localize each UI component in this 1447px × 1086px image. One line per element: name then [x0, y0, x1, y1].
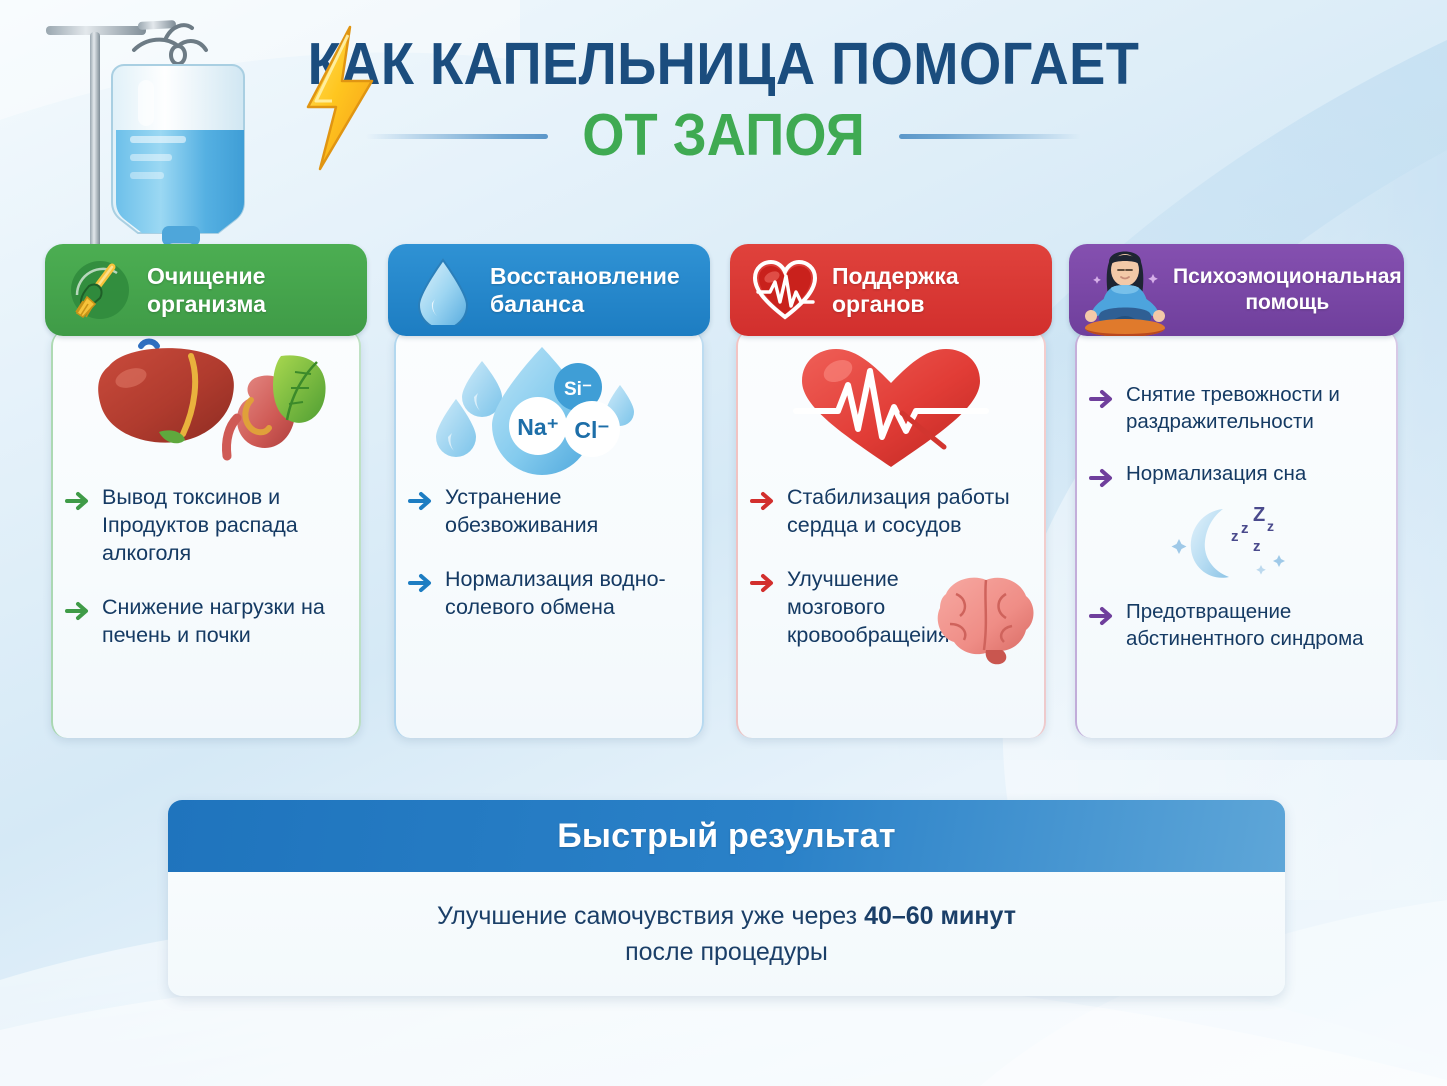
card-organs-title: Поддержка органов — [824, 262, 969, 318]
title-divider-right — [899, 134, 1081, 139]
card-balance-header: Восстановление баланса — [388, 244, 710, 336]
fast-result-banner-header: Быстрый результат — [168, 800, 1285, 872]
card-organs-bullets: Стабилизация работы сердца и сосудов Улу… — [738, 480, 1044, 650]
card-balance[interactable]: Si⁻ Na⁺ Cl⁻ Устранение обезвожи — [388, 244, 710, 738]
arrow-right-icon — [750, 570, 776, 596]
cards-row: Вывод токсинов и Iпродуктов распада алко… — [0, 244, 1447, 744]
electrolyte-label-na: Na⁺ — [517, 414, 559, 440]
card-title-line1: Восстановление — [490, 262, 680, 290]
card-psycho-bullets: Снятие тревожности и раздражительности Н… — [1077, 330, 1396, 653]
svg-text:z: z — [1231, 528, 1239, 545]
sleep-illustration: Z z z z z — [1089, 499, 1382, 583]
list-item-label: Нормализация водно-солевого обмена — [445, 566, 688, 622]
electrolyte-illustration: Si⁻ Na⁺ Cl⁻ — [396, 330, 702, 480]
card-organs-header: Поддержка органов — [730, 244, 1052, 336]
card-title-line2: организма — [147, 290, 266, 318]
svg-text:z: z — [1267, 518, 1274, 534]
arrow-right-icon — [408, 488, 434, 514]
fast-result-banner-body: Улучшение самочувствия уже через 40–60 м… — [168, 872, 1285, 971]
list-item: Снятие тревожности и раздражительности — [1089, 382, 1382, 435]
card-balance-body: Si⁻ Na⁺ Cl⁻ Устранение обезвожи — [394, 330, 704, 738]
fast-result-banner: Быстрый результат Улучшение самочувствия… — [168, 800, 1285, 996]
title-divider-left — [366, 134, 548, 139]
fast-result-line2: после процедуры — [168, 934, 1285, 970]
heart-ecg-illustration — [738, 330, 1044, 480]
fast-result-highlight: 40–60 минут — [864, 902, 1016, 930]
card-balance-bullets: Устранение обезвоживания Нормализация во… — [396, 480, 702, 622]
svg-text:z: z — [1241, 520, 1249, 537]
page-title-line1: КАК КАПЕЛЬНИЦА ПОМОГАЕТ — [58, 34, 1389, 95]
arrow-right-icon — [1089, 386, 1115, 412]
svg-text:z: z — [1253, 538, 1261, 555]
fast-result-text-before: Улучшение самочувствия уже через — [437, 902, 864, 930]
card-cleansing-bullets: Вывод токсинов и Iпродуктов распада алко… — [53, 480, 359, 650]
broom-icon — [61, 251, 139, 329]
list-item: Вывод токсинов и Iпродуктов распада алко… — [65, 484, 345, 568]
arrow-right-icon — [1089, 465, 1115, 491]
list-item-label: Нормализация сна — [1126, 461, 1306, 488]
arrow-right-icon — [65, 488, 91, 514]
svg-text:Z: Z — [1253, 504, 1265, 526]
list-item: Снижение нагрузки на печень и почки — [65, 594, 345, 650]
liver-kidney-illustration — [53, 330, 359, 480]
list-item: Улучшение мозгового кровообращеіия — [750, 566, 1030, 650]
liver-kidney-leaf-icon — [79, 338, 334, 478]
card-title-line1: Поддержка — [832, 262, 959, 290]
lightning-bolt-icon — [298, 25, 382, 171]
card-title-line2: помощь — [1173, 290, 1402, 316]
page-title-line2: ОТ ЗАПОЯ — [582, 105, 864, 166]
infographic-root: КАК КАПЕЛЬНИЦА ПОМОГАЕТ ОТ ЗАПОЯ — [0, 0, 1447, 1086]
sleeping-moon-zzz-icon: Z z z z z — [1161, 499, 1311, 583]
heart-pulse-icon — [746, 251, 824, 329]
electrolyte-label-cl: Cl⁻ — [574, 417, 609, 443]
list-item-label: Устранение обезвоживания — [445, 484, 688, 540]
card-cleansing[interactable]: Вывод токсинов и Iпродуктов распада алко… — [45, 244, 367, 738]
fast-result-title: Быстрый результат — [557, 817, 896, 856]
list-item-label: Вывод токсинов и Iпродуктов распада алко… — [102, 484, 345, 568]
arrow-right-icon — [408, 570, 434, 596]
list-item-label: Предотвращение абстинентного синдрома — [1126, 599, 1382, 652]
electrolyte-label-si: Si⁻ — [564, 379, 592, 400]
arrow-right-icon — [1089, 603, 1115, 629]
list-item-label: Снятие тревожности и раздражительности — [1126, 382, 1382, 435]
list-item-label: Снижение нагрузки на печень и почки — [102, 594, 345, 650]
card-cleansing-title: Очищение организма — [139, 262, 276, 318]
card-cleansing-header: Очищение организма — [45, 244, 367, 336]
card-organs[interactable]: Стабилизация работы сердца и сосудов Улу… — [730, 244, 1052, 738]
card-title-line1: Психоэмоциональная — [1173, 264, 1402, 290]
electrolyte-drops-icon: Si⁻ Na⁺ Cl⁻ — [434, 341, 664, 476]
list-item: Нормализация водно-солевого обмена — [408, 566, 688, 622]
card-title-line2: баланса — [490, 290, 680, 318]
list-item-label: Улучшение мозгового кровообращеіия — [787, 566, 957, 650]
card-psycho-header: Психоэмоциональная помощь — [1069, 244, 1404, 336]
list-item: Стабилизация работы сердца и сосудов — [750, 484, 1030, 540]
fast-result-line1: Улучшение самочувствия уже через 40–60 м… — [168, 898, 1285, 934]
card-psycho[interactable]: Снятие тревожности и раздражительности Н… — [1069, 244, 1404, 738]
card-psycho-title: Психоэмоциональная помощь — [1171, 264, 1412, 315]
heart-ecg-icon — [784, 343, 999, 473]
card-organs-body: Стабилизация работы сердца и сосудов Улу… — [736, 330, 1046, 738]
list-item: Устранение обезвоживания — [408, 484, 688, 540]
arrow-right-icon — [750, 488, 776, 514]
card-balance-title: Восстановление баланса — [482, 262, 690, 318]
card-title-line1: Очищение — [147, 262, 266, 290]
water-drop-icon — [404, 251, 482, 329]
list-item-label: Стабилизация работы сердца и сосудов — [787, 484, 1030, 540]
list-item: Предотвращение абстинентного синдрома — [1089, 599, 1382, 652]
list-item: Нормализация сна — [1089, 461, 1382, 491]
arrow-right-icon — [65, 598, 91, 624]
card-psycho-body: Снятие тревожности и раздражительности Н… — [1075, 330, 1398, 738]
page-title-row2: ОТ ЗАПОЯ — [0, 105, 1447, 166]
card-title-line2: органов — [832, 290, 959, 318]
title-block: КАК КАПЕЛЬНИЦА ПОМОГАЕТ ОТ ЗАПОЯ — [0, 34, 1447, 167]
card-cleansing-body: Вывод токсинов и Iпродуктов распада алко… — [51, 330, 361, 738]
meditating-woman-icon — [1079, 244, 1171, 336]
